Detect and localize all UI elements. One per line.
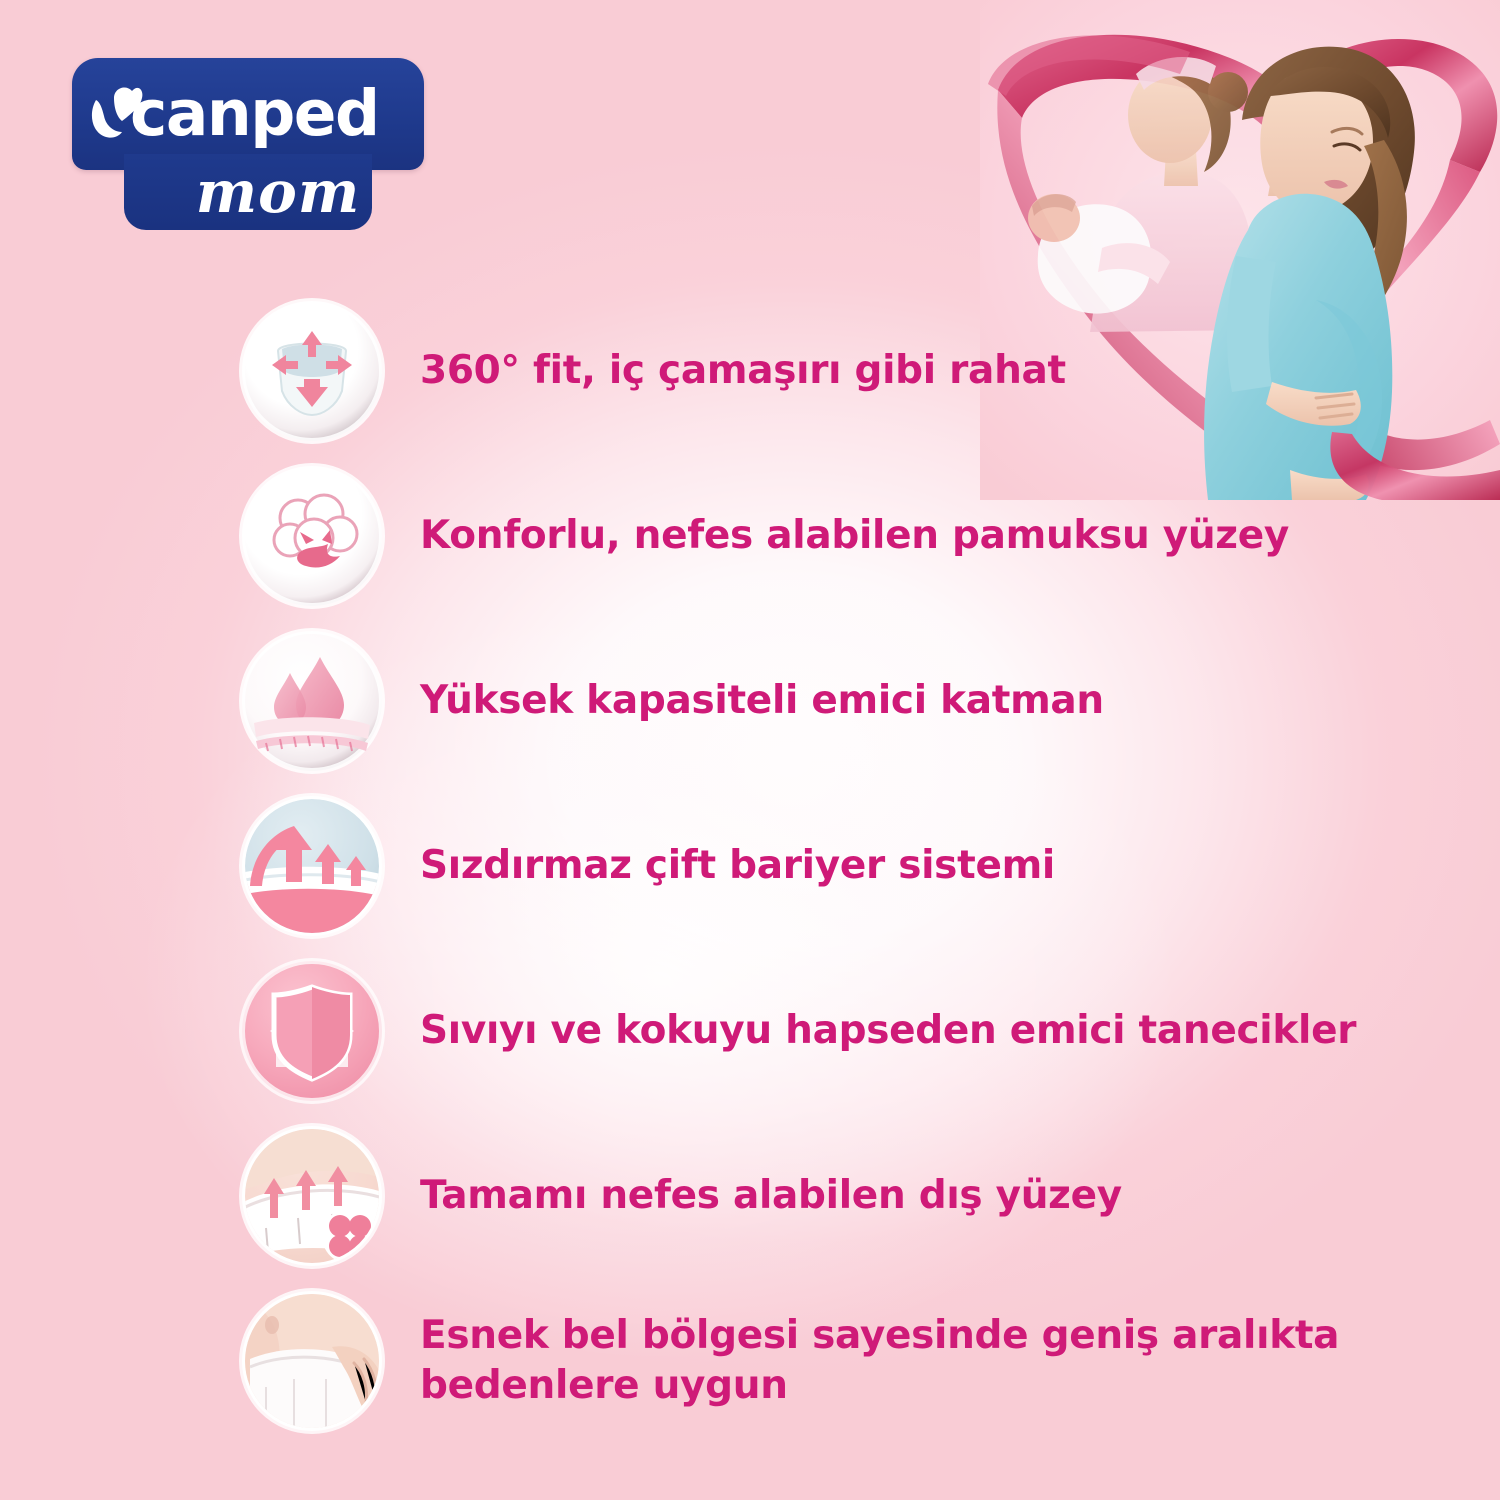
list-item: Konforlu, nefes alabilen pamuksu yüzey <box>236 453 1416 618</box>
list-item-label: Tamamı nefes alabilen dış yüzey <box>420 1171 1122 1221</box>
list-item-label: Yüksek kapasiteli emici katman <box>420 676 1104 726</box>
list-item: Sıvıyı ve kokuyu hapseden emici tanecikl… <box>236 948 1416 1113</box>
cotton-boll-icon <box>236 460 388 612</box>
list-item-label: Esnek bel bölgesi sayesinde geniş aralık… <box>420 1311 1339 1411</box>
shield-with-arrows-icon <box>236 955 388 1107</box>
list-item: Tamamı nefes alabilen dış yüzey <box>236 1113 1416 1278</box>
list-item: 360° fit, iç çamaşırı gibi rahat <box>236 288 1416 453</box>
feature-list: 360° fit, iç çamaşırı gibi rahat <box>236 288 1416 1443</box>
list-item-label: Sızdırmaz çift bariyer sistemi <box>420 841 1055 891</box>
brand-logo: canped mom <box>72 58 424 243</box>
list-item: Esnek bel bölgesi sayesinde geniş aralık… <box>236 1278 1416 1443</box>
logo-secondary-text: mom <box>158 156 398 228</box>
list-item-label: Konforlu, nefes alabilen pamuksu yüzey <box>420 511 1289 561</box>
product-feature-poster: canped mom <box>0 0 1500 1500</box>
360-fit-diaper-arrows-icon <box>236 295 388 447</box>
logo-primary-text: canped <box>130 76 420 152</box>
breathable-outer-surface-icon <box>236 1120 388 1272</box>
list-item: Yüksek kapasiteli emici katman <box>236 618 1416 783</box>
list-item-label: 360° fit, iç çamaşırı gibi rahat <box>420 346 1066 396</box>
list-item: Sızdırmaz çift bariyer sistemi <box>236 783 1416 948</box>
list-item-label: Sıvıyı ve kokuyu hapseden emici tanecikl… <box>420 1006 1356 1056</box>
flexible-waistband-icon <box>236 1285 388 1437</box>
double-barrier-arrows-icon <box>236 790 388 942</box>
absorbent-droplets-layer-icon <box>236 625 388 777</box>
